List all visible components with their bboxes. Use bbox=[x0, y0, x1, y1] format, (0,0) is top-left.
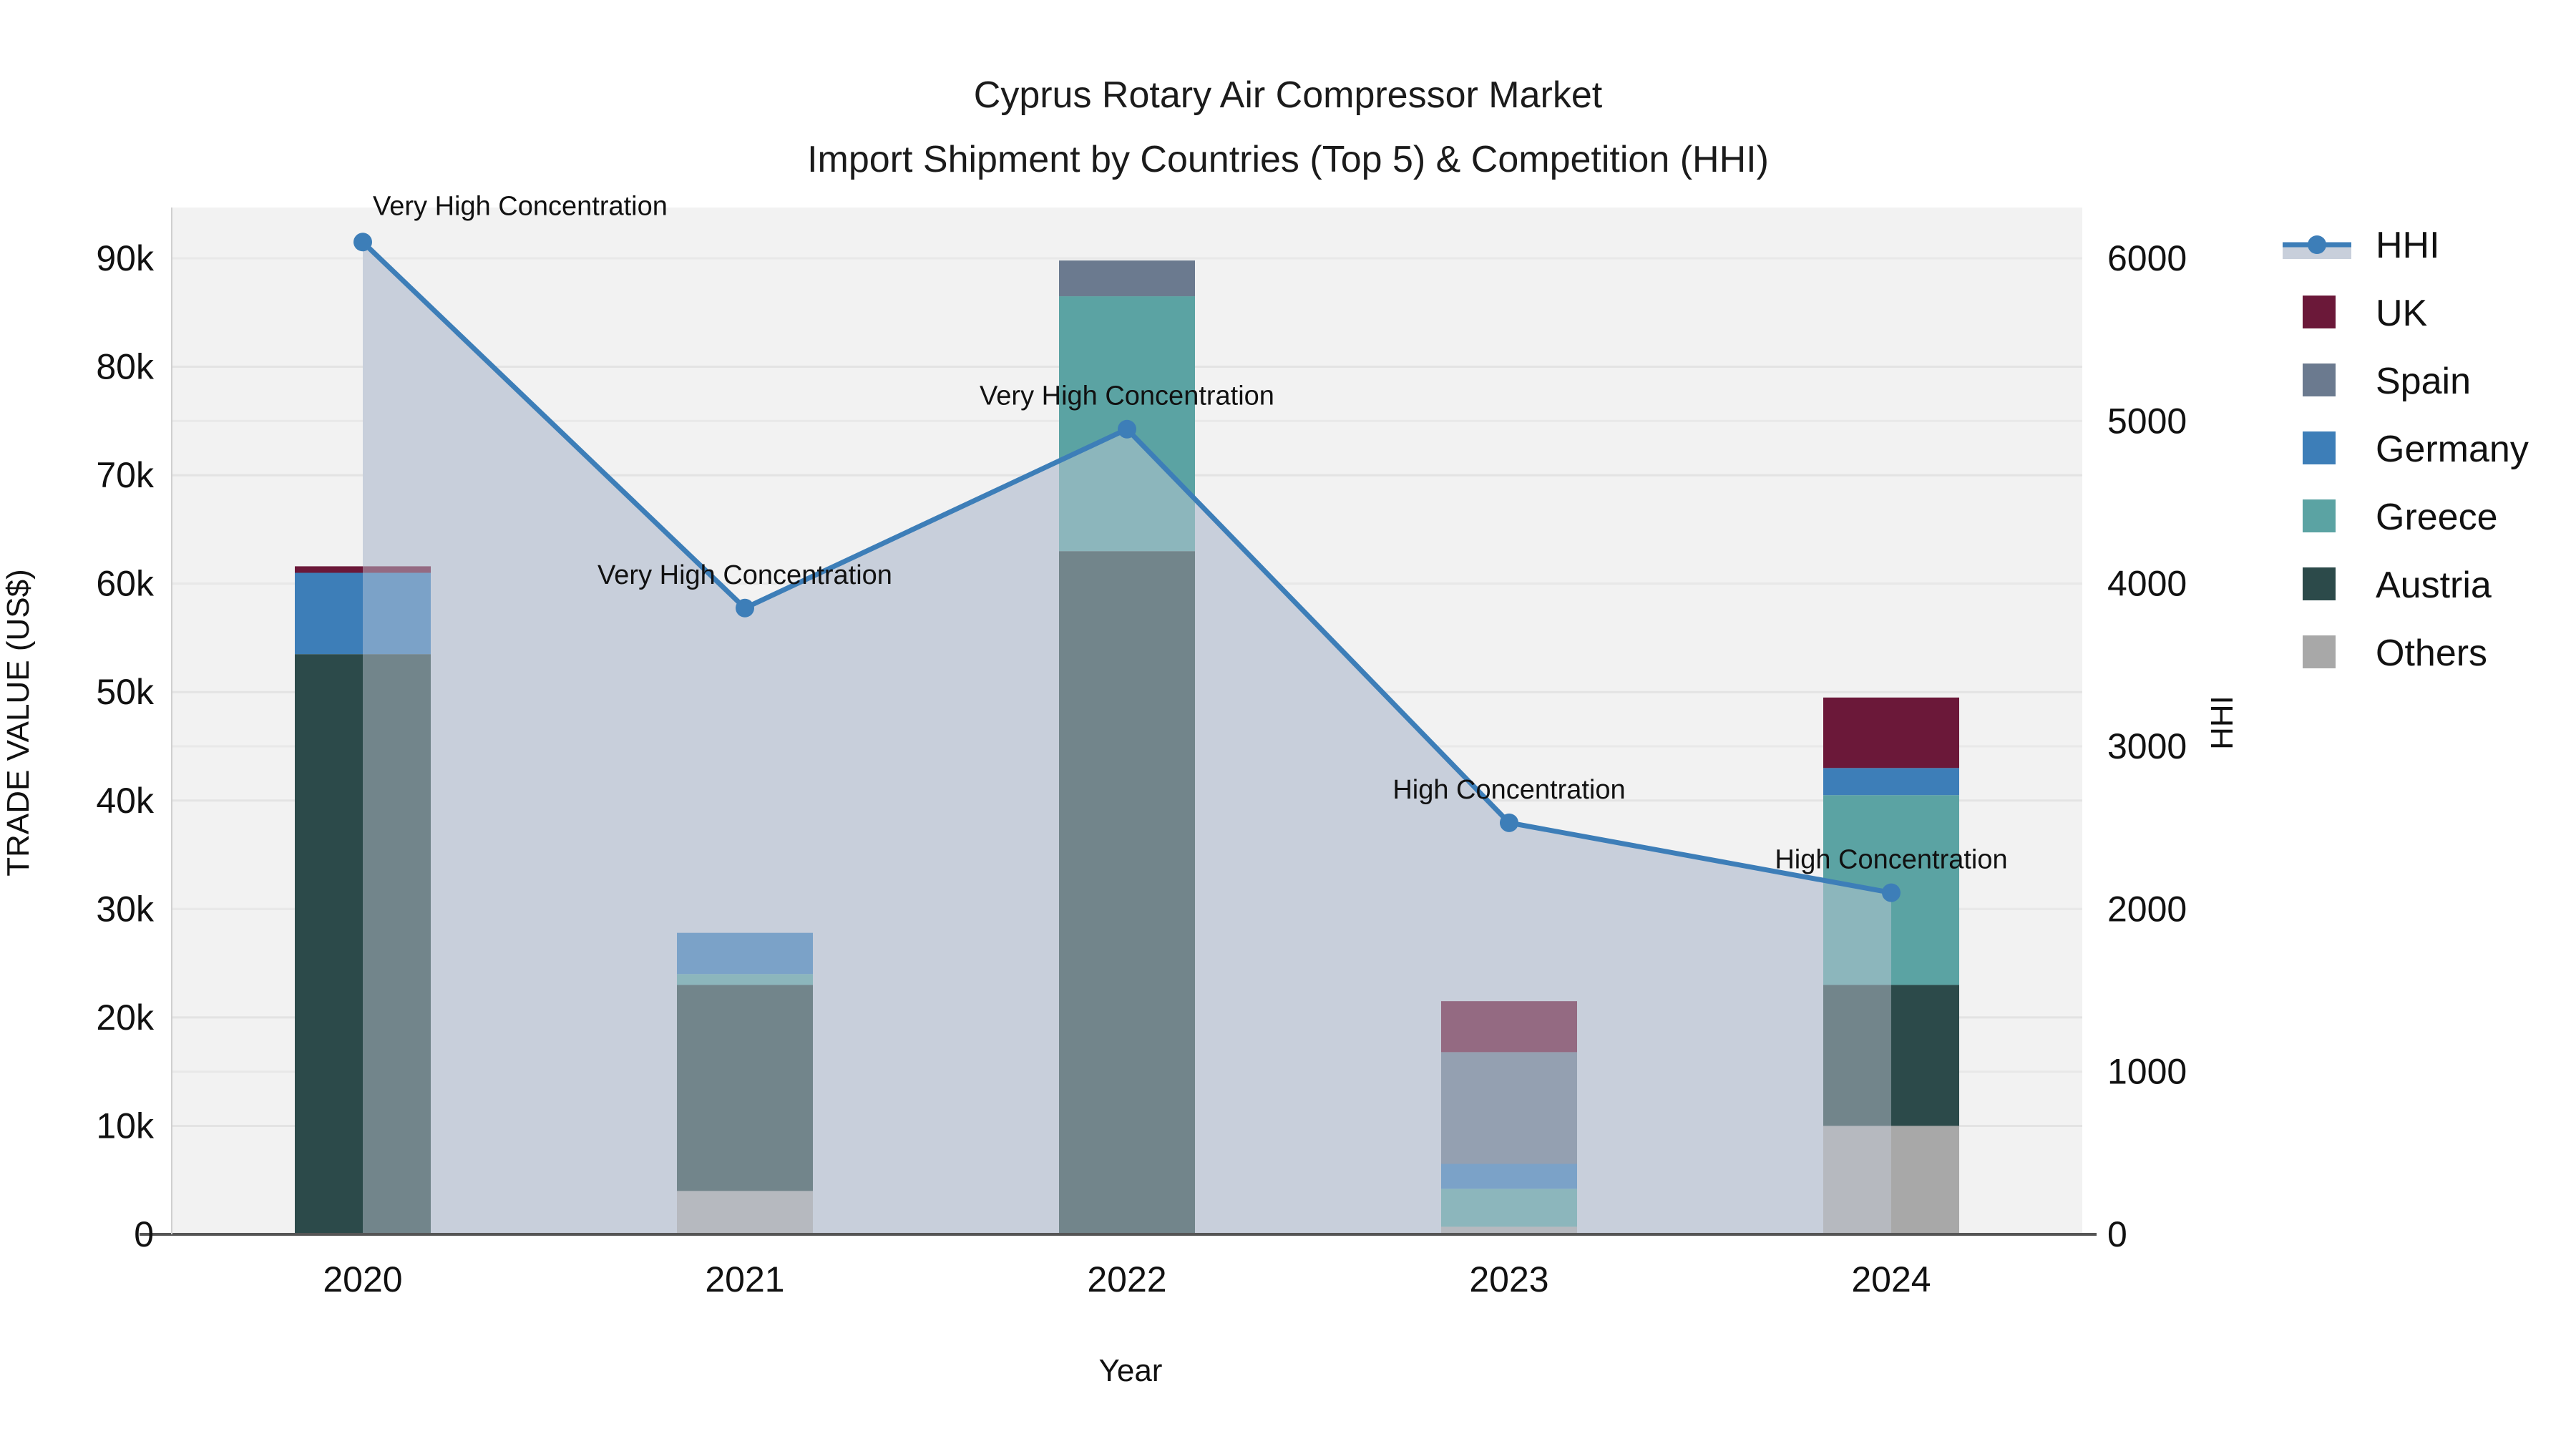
y2-tick-label: 3000 bbox=[2107, 726, 2187, 766]
annotation-label: High Concentration bbox=[1775, 845, 2007, 875]
x-tick-label: 2020 bbox=[323, 1259, 402, 1299]
bar-segment-uk[interactable] bbox=[1823, 698, 1959, 769]
y-tick-label: 70k bbox=[96, 455, 155, 495]
chart-title: Cyprus Rotary Air Compressor Market bbox=[974, 74, 1603, 116]
hhi-marker[interactable] bbox=[1118, 420, 1136, 439]
legend-color-swatch bbox=[2303, 364, 2336, 396]
chart-container: Cyprus Rotary Air Compressor Market Impo… bbox=[0, 0, 2576, 1449]
y-axis-title: TRADE VALUE (US$) bbox=[1, 569, 36, 877]
y2-tick-label: 1000 bbox=[2107, 1052, 2187, 1092]
hhi-marker[interactable] bbox=[736, 599, 754, 618]
x-axis-title: Year bbox=[1099, 1353, 1163, 1388]
annotation-label: High Concentration bbox=[1392, 775, 1625, 805]
y-tick-label: 20k bbox=[96, 997, 155, 1038]
y2-axis-ticks: 0100020003000400050006000 bbox=[2107, 238, 2187, 1254]
legend-label: Others bbox=[2376, 633, 2487, 674]
annotation-label: Very High Concentration bbox=[373, 191, 668, 221]
chart-canvas: Cyprus Rotary Air Compressor Market Impo… bbox=[0, 0, 2576, 1449]
legend-color-swatch bbox=[2303, 499, 2336, 532]
y2-tick-label: 2000 bbox=[2107, 889, 2187, 929]
hhi-marker[interactable] bbox=[353, 233, 372, 251]
annotation-label: Very High Concentration bbox=[980, 381, 1274, 411]
x-tick-label: 2021 bbox=[705, 1259, 784, 1299]
legend-item-greece[interactable]: Greece bbox=[2303, 497, 2498, 538]
x-tick-label: 2022 bbox=[1087, 1259, 1166, 1299]
legend-label: Germany bbox=[2376, 429, 2529, 470]
legend-item-austria[interactable]: Austria bbox=[2303, 565, 2492, 606]
y2-axis-title: HHI bbox=[2205, 696, 2240, 750]
legend-item-germany[interactable]: Germany bbox=[2303, 429, 2529, 470]
y-axis-ticks: 010k20k30k40k50k60k70k80k90k bbox=[96, 238, 155, 1254]
legend-label: Austria bbox=[2376, 565, 2492, 606]
y-tick-label: 30k bbox=[96, 889, 155, 929]
chart-subtitle: Import Shipment by Countries (Top 5) & C… bbox=[807, 139, 1769, 180]
y-tick-label: 80k bbox=[96, 347, 155, 387]
legend-label: Spain bbox=[2376, 361, 2471, 402]
y-tick-label: 10k bbox=[96, 1106, 155, 1146]
legend-item-spain[interactable]: Spain bbox=[2303, 361, 2471, 402]
legend-color-swatch bbox=[2303, 567, 2336, 600]
y-tick-label: 0 bbox=[134, 1214, 154, 1254]
legend-marker-icon bbox=[2308, 235, 2326, 254]
legend-item-uk[interactable]: UK bbox=[2303, 293, 2428, 334]
legend-color-swatch bbox=[2303, 431, 2336, 464]
legend-label: HHI bbox=[2376, 225, 2440, 266]
legend-color-swatch bbox=[2303, 296, 2336, 328]
y-tick-label: 90k bbox=[96, 238, 155, 278]
legend-color-swatch bbox=[2303, 635, 2336, 668]
bar-segment-spain[interactable] bbox=[1059, 260, 1195, 296]
x-tick-label: 2023 bbox=[1469, 1259, 1548, 1299]
legend-item-others[interactable]: Others bbox=[2303, 633, 2487, 674]
hhi-marker[interactable] bbox=[1882, 884, 1901, 902]
x-axis-ticks: 20202021202220232024 bbox=[323, 1259, 1931, 1299]
legend-item-hhi[interactable]: HHI bbox=[2283, 225, 2440, 266]
y2-tick-label: 6000 bbox=[2107, 238, 2187, 278]
y-tick-label: 40k bbox=[96, 781, 155, 821]
bar-segment-germany[interactable] bbox=[1823, 768, 1959, 795]
y-tick-label: 50k bbox=[96, 672, 155, 712]
x-tick-label: 2024 bbox=[1851, 1259, 1931, 1299]
y2-tick-label: 5000 bbox=[2107, 401, 2187, 441]
hhi-marker[interactable] bbox=[1500, 814, 1518, 832]
y2-tick-label: 0 bbox=[2107, 1214, 2127, 1254]
legend-label: UK bbox=[2376, 293, 2428, 334]
y-tick-label: 60k bbox=[96, 564, 155, 604]
legend-label: Greece bbox=[2376, 497, 2498, 538]
annotation-label: Very High Concentration bbox=[597, 560, 892, 590]
y2-tick-label: 4000 bbox=[2107, 564, 2187, 604]
legend: HHIUKSpainGermanyGreeceAustriaOthers bbox=[2283, 225, 2529, 674]
